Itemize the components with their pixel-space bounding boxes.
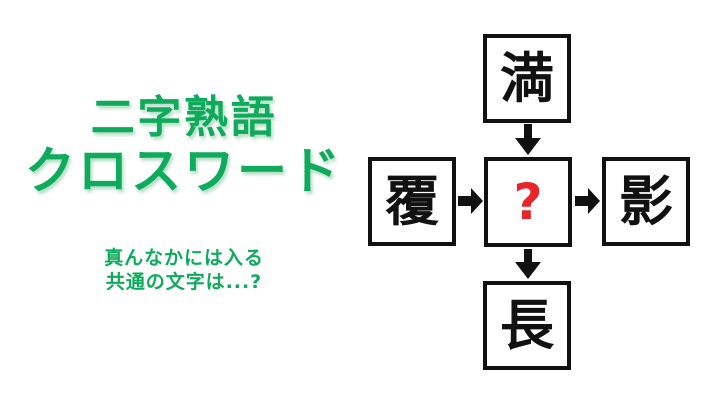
- puzzle-cell-bottom: 長: [483, 281, 571, 370]
- puzzle-cell-top-char: 満: [500, 52, 554, 106]
- puzzle-cell-right: 影: [602, 157, 690, 246]
- arrow-down-icon: [514, 124, 542, 156]
- subtitle-block: 真んなかには入る 共通の文字は...?: [0, 247, 368, 295]
- puzzle-cell-center: ?: [484, 157, 572, 247]
- puzzle-cell-top: 満: [483, 34, 571, 123]
- puzzle-cell-left: 覆: [368, 157, 456, 246]
- subtitle-line-1: 真んなかには入る: [0, 247, 368, 271]
- arrow-down-icon: [514, 249, 542, 280]
- arrow-right-icon: [458, 187, 484, 215]
- puzzle-cell-right-char: 影: [619, 175, 673, 229]
- arrow-right-icon: [575, 187, 601, 215]
- puzzle-cell-center-unknown-char: ?: [513, 177, 542, 227]
- title-block: 二字熟語 クロスワード: [0, 96, 368, 196]
- subtitle-line-2: 共通の文字は...?: [0, 271, 368, 295]
- puzzle-cell-bottom-char: 長: [500, 299, 554, 353]
- title-line-1: 二字熟語: [0, 96, 368, 140]
- puzzle-cell-left-char: 覆: [385, 175, 439, 229]
- puzzle-graphic: 二字熟語 クロスワード 真んなかには入る 共通の文字は...? 満 覆 ? 影 …: [0, 0, 720, 405]
- title-line-2: クロスワード: [0, 146, 368, 196]
